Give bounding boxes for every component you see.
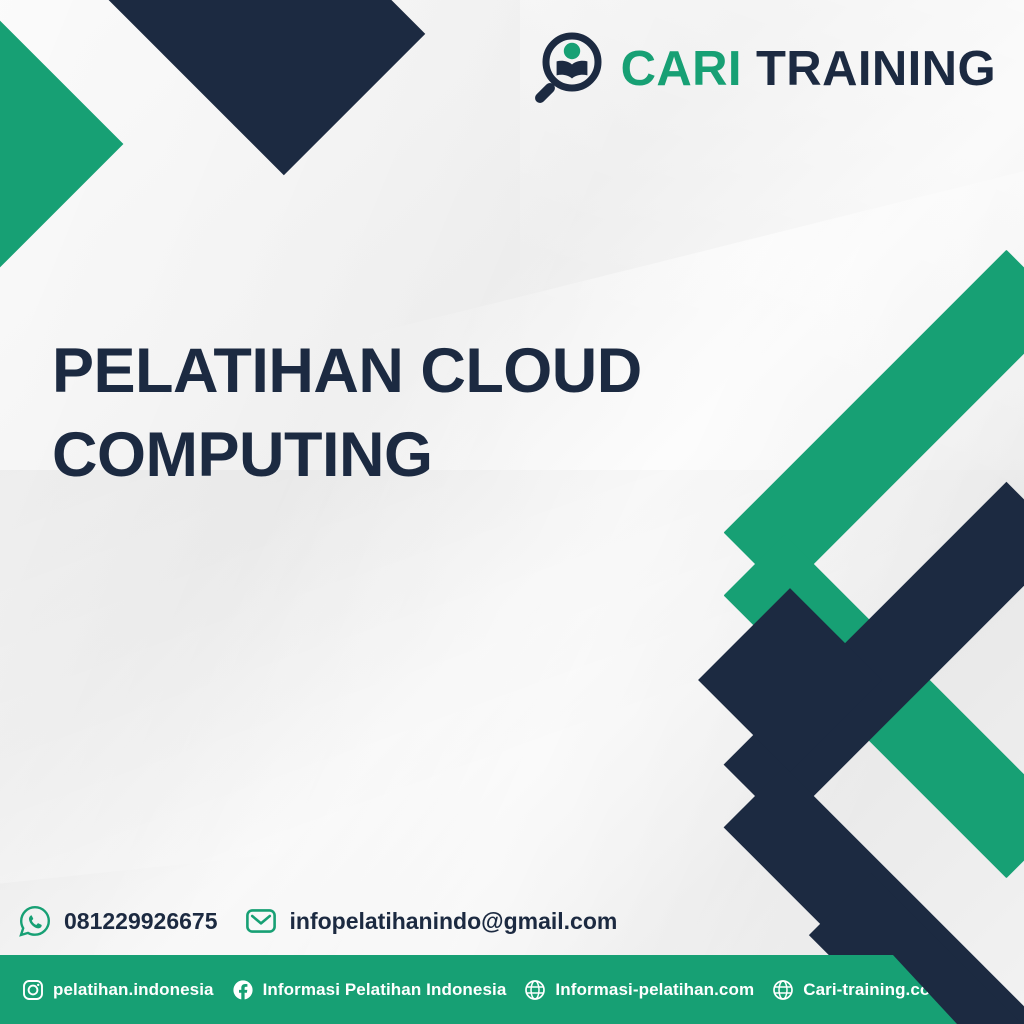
magnifier-book-icon <box>531 32 605 106</box>
brand-name-training: TRAINING <box>756 42 996 96</box>
globe-icon <box>772 979 794 1001</box>
footer-item-facebook[interactable]: Informasi Pelatihan Indonesia <box>232 979 507 1001</box>
email-icon <box>244 904 278 938</box>
green-arrow-top-left <box>0 3 123 286</box>
instagram-icon <box>22 979 44 1001</box>
footer-item-website-informasi-label: Informasi-pelatihan.com <box>555 980 754 1000</box>
brand-name: CARI TRAINING <box>621 45 996 94</box>
footer-item-instagram[interactable]: pelatihan.indonesia <box>22 979 214 1001</box>
contact-whatsapp[interactable]: 081229926675 <box>18 904 218 938</box>
brand-name-cari: CARI <box>621 42 742 96</box>
footer-item-facebook-label: Informasi Pelatihan Indonesia <box>263 980 507 1000</box>
facebook-icon <box>232 979 254 1001</box>
contact-bar: 081229926675 infopelatihanindo@gmail.com <box>18 904 643 938</box>
contact-email[interactable]: infopelatihanindo@gmail.com <box>244 904 618 938</box>
contact-whatsapp-label: 081229926675 <box>64 908 218 935</box>
footer-item-instagram-label: pelatihan.indonesia <box>53 980 214 1000</box>
globe-icon <box>524 979 546 1001</box>
poster-canvas: CARI TRAINING Pelatihan Cloud Computing … <box>0 0 1024 1024</box>
brand-logo: CARI TRAINING <box>531 32 996 106</box>
page-title: Pelatihan Cloud Computing <box>52 330 752 498</box>
social-footer-bar: pelatihan.indonesia Informasi Pelatihan … <box>0 955 960 1024</box>
footer-item-website-informasi[interactable]: Informasi-pelatihan.com <box>524 979 754 1001</box>
whatsapp-icon <box>18 904 52 938</box>
contact-email-label: infopelatihanindo@gmail.com <box>290 908 618 935</box>
